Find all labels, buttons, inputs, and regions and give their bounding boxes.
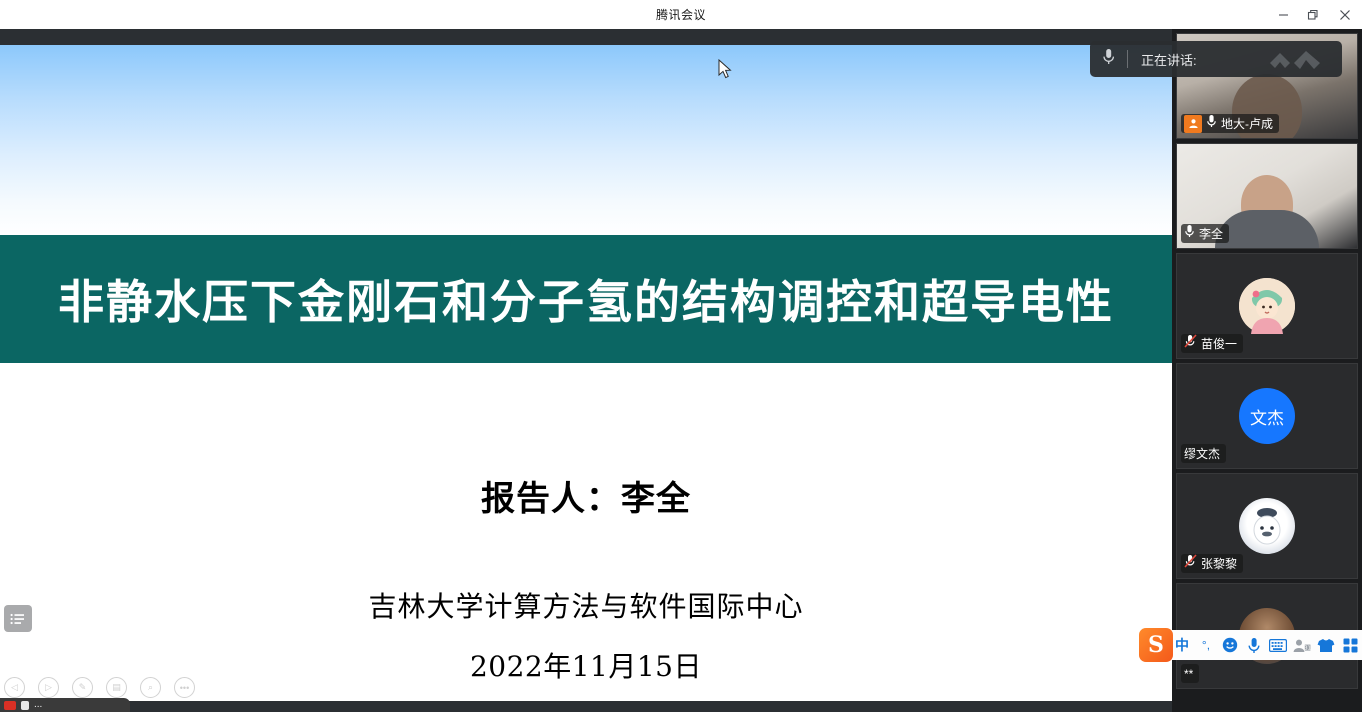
- participant-name: **: [1184, 667, 1193, 681]
- participant-tile[interactable]: 李全: [1176, 143, 1358, 249]
- participant-tile[interactable]: 文杰 缪文杰: [1176, 363, 1358, 469]
- sogou-logo-icon[interactable]: S: [1139, 628, 1173, 662]
- voice-input-icon[interactable]: [1242, 637, 1266, 654]
- previous-slide-icon[interactable]: ◁: [4, 677, 25, 698]
- slide-title-text: 非静水压下金刚石和分子氢的结构调控和超导电性: [58, 266, 1114, 332]
- participant-name: 苗俊一: [1201, 335, 1237, 352]
- skin-selector-icon[interactable]: [1314, 638, 1338, 653]
- pen-tool-icon[interactable]: ✎: [72, 677, 93, 698]
- microphone-icon: [1184, 224, 1195, 243]
- participant-tile[interactable]: 张黎黎: [1176, 473, 1358, 579]
- screen-share-top-strip: [0, 29, 1172, 45]
- zoom-tool-icon[interactable]: ⌕: [140, 677, 161, 698]
- speaking-label: 正在讲话:: [1141, 50, 1197, 69]
- microphone-icon: [1206, 114, 1217, 133]
- participants-sidebar[interactable]: 地大-卢成 李全: [1172, 29, 1362, 712]
- chinese-mode-label: 中: [1175, 635, 1189, 655]
- participant-avatar: 文杰: [1239, 388, 1295, 444]
- participant-avatar: [1239, 498, 1295, 554]
- app-grid-icon[interactable]: [1338, 638, 1362, 653]
- participant-name-label: 张黎黎: [1181, 554, 1243, 573]
- user-card-icon[interactable]: 31: [1290, 638, 1314, 653]
- tencent-meeting-watermark-icon: [1268, 49, 1330, 76]
- microphone-icon: [1102, 48, 1115, 70]
- participant-name-label: **: [1181, 664, 1199, 683]
- punctuation-mode-icon[interactable]: °,: [1194, 638, 1218, 652]
- more-options-icon[interactable]: •••: [174, 677, 195, 698]
- avatar-initials: 文杰: [1250, 404, 1284, 429]
- window-titlebar: 腾讯会议: [0, 0, 1362, 29]
- participant-name: 地大-卢成: [1221, 115, 1273, 132]
- all-slides-icon[interactable]: ▤: [106, 677, 127, 698]
- microphone-muted-icon: [1184, 334, 1197, 353]
- svg-text:31: 31: [1304, 645, 1310, 651]
- participant-name: 张黎黎: [1201, 555, 1237, 572]
- participant-name: 李全: [1199, 225, 1223, 242]
- participant-name-label: 地大-卢成: [1181, 114, 1279, 133]
- participant-name: 缪文杰: [1184, 445, 1220, 462]
- soft-keyboard-icon[interactable]: [1266, 639, 1290, 652]
- shared-screen-stage[interactable]: 非静水压下金刚石和分子氢的结构调控和超导电性 报告人：李全 吉林大学计算方法与软…: [0, 29, 1172, 712]
- chinese-mode-icon[interactable]: 中: [1170, 635, 1194, 655]
- host-badge-icon: [1184, 115, 1202, 133]
- participant-name-label: 李全: [1181, 224, 1229, 243]
- sogou-ime-toolbar[interactable]: 中 °, 31: [1170, 630, 1362, 660]
- record-indicator-icon: [4, 701, 16, 710]
- window-title: 腾讯会议: [656, 6, 706, 23]
- close-button[interactable]: [1328, 0, 1362, 29]
- next-slide-icon[interactable]: ▷: [38, 677, 59, 698]
- sogou-logo-text: S: [1148, 632, 1164, 658]
- window-controls: [1268, 0, 1362, 29]
- toolbar-icon: [21, 701, 29, 710]
- participant-tile[interactable]: 苗俊一: [1176, 253, 1358, 359]
- presenter-controls: ◁ ▷ ✎ ▤ ⌕ •••: [4, 677, 195, 698]
- punctuation-mode-label: °,: [1202, 638, 1210, 652]
- emoji-picker-icon[interactable]: [1218, 637, 1242, 653]
- participant-avatar: [1239, 278, 1295, 334]
- restore-button[interactable]: [1298, 0, 1328, 29]
- obscured-toolbar-text: ...: [34, 700, 42, 710]
- slide-list-button[interactable]: [4, 605, 32, 632]
- slide-body: 报告人：李全 吉林大学计算方法与软件国际中心 2022年11月15日: [0, 363, 1172, 701]
- obscured-bottom-toolbar[interactable]: ...: [0, 698, 130, 712]
- microphone-muted-icon: [1184, 554, 1197, 573]
- slide-affiliation-line: 吉林大学计算方法与软件国际中心: [0, 585, 1172, 625]
- powerpoint-slide: 非静水压下金刚石和分子氢的结构调控和超导电性 报告人：李全 吉林大学计算方法与软…: [0, 45, 1172, 701]
- speaking-toast: 正在讲话:: [1090, 41, 1342, 77]
- participant-name-label: 缪文杰: [1181, 444, 1226, 463]
- slide-title-banner: 非静水压下金刚石和分子氢的结构调控和超导电性: [0, 235, 1172, 363]
- toast-divider: [1127, 50, 1128, 68]
- slide-presenter-line: 报告人：李全: [0, 471, 1172, 520]
- participant-name-label: 苗俊一: [1181, 334, 1243, 353]
- minimize-button[interactable]: [1268, 0, 1298, 29]
- slide-background-gradient: [0, 45, 1172, 235]
